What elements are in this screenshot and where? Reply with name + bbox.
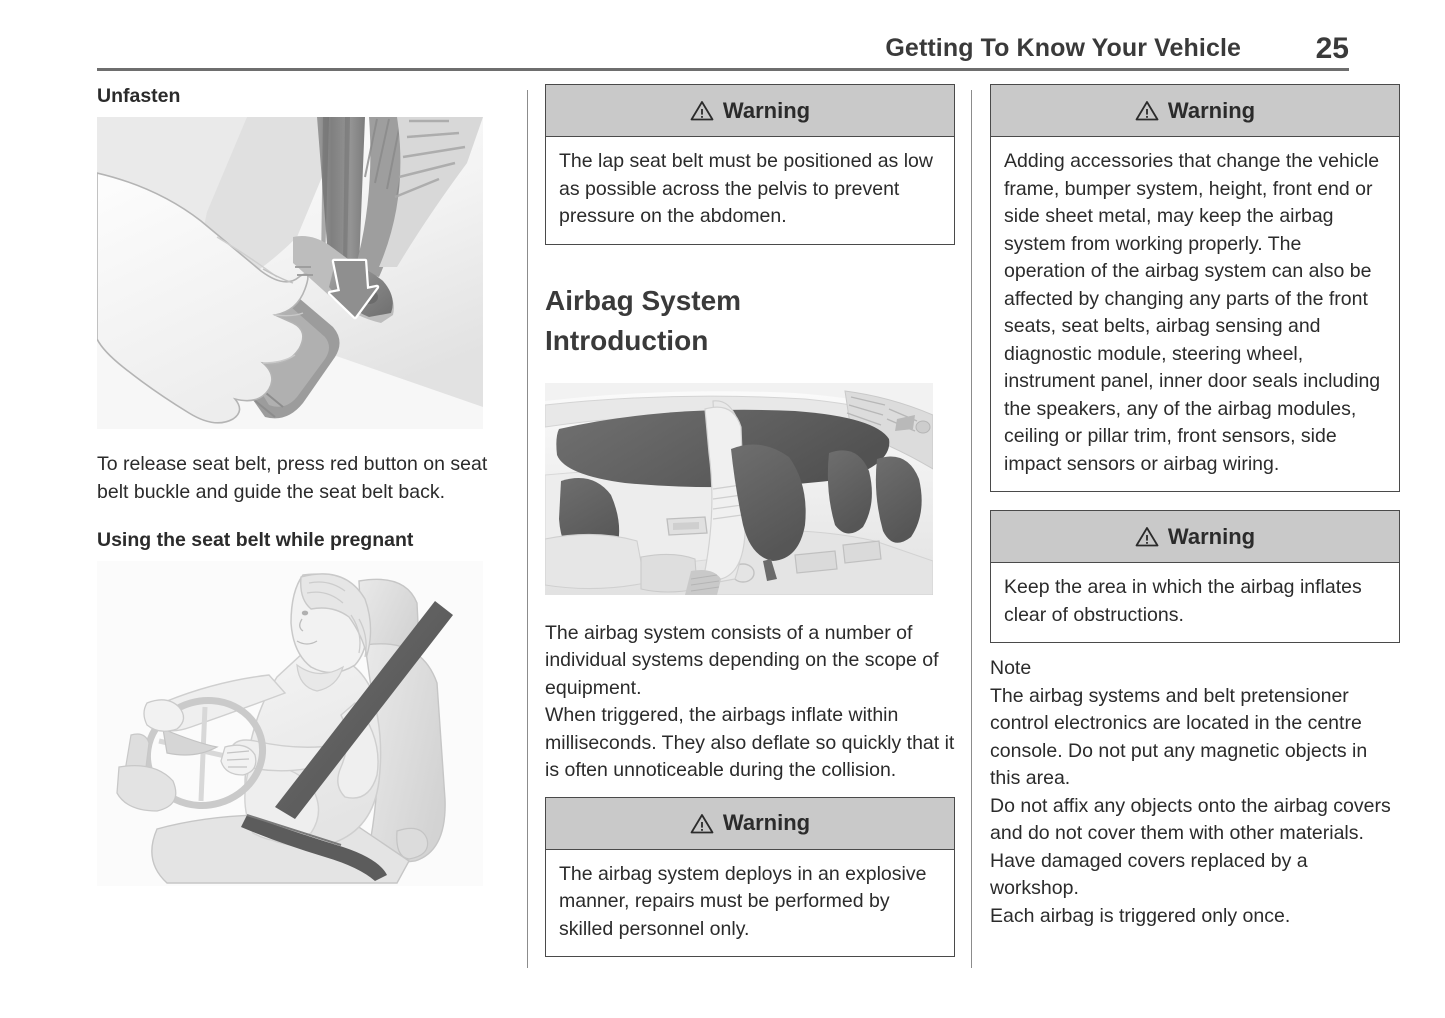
warning-body: The lap seat belt must be positioned as … bbox=[546, 137, 954, 244]
subhead-pregnant: Using the seat belt while pregnant bbox=[97, 528, 507, 553]
note-paragraph-1: The airbag systems and belt pretensioner… bbox=[990, 683, 1400, 793]
warning-box-explosive: Warning The airbag system deploys in an … bbox=[545, 797, 955, 958]
warning-body: Adding accessories that change the vehic… bbox=[991, 137, 1399, 491]
figure-unfasten-seatbelt bbox=[97, 117, 483, 429]
figure-deployed-airbags bbox=[545, 383, 933, 595]
section-title-line-2: Introduction bbox=[545, 321, 955, 361]
warning-header: Warning bbox=[546, 85, 954, 137]
warning-header: Warning bbox=[991, 85, 1399, 137]
column-divider-right bbox=[971, 90, 972, 968]
warning-text-obstructions: Keep the area in which the airbag inflat… bbox=[1004, 574, 1386, 629]
page-header: Getting To Know Your Vehicle 25 bbox=[97, 34, 1349, 70]
section-heading-airbag-system: Airbag System Introduction bbox=[545, 281, 955, 361]
warning-label: Warning bbox=[723, 98, 810, 124]
note-block: Note The airbag systems and belt pretens… bbox=[990, 655, 1400, 930]
warning-box-accessories: Warning Adding accessories that change t… bbox=[990, 84, 1400, 492]
warning-text-lap-belt: The lap seat belt must be positioned as … bbox=[559, 148, 941, 231]
subhead-unfasten: Unfasten bbox=[97, 84, 507, 109]
page-number: 25 bbox=[1316, 32, 1349, 66]
warning-triangle-icon bbox=[1135, 526, 1159, 547]
warning-box-obstructions: Warning Keep the area in which the airba… bbox=[990, 510, 1400, 643]
warning-triangle-icon bbox=[690, 100, 714, 121]
page-columns: Unfasten bbox=[0, 84, 1445, 984]
warning-label: Warning bbox=[1168, 98, 1255, 124]
left-column: Unfasten bbox=[97, 84, 507, 886]
paragraph-airbag-systems: The airbag system consists of a number o… bbox=[545, 620, 955, 703]
figure-pregnant-driver bbox=[97, 561, 483, 886]
header-rule bbox=[97, 68, 1349, 71]
middle-column: Warning The lap seat belt must be positi… bbox=[545, 84, 955, 957]
warning-label: Warning bbox=[723, 810, 810, 836]
note-paragraph-2: Do not affix any objects onto the airbag… bbox=[990, 793, 1400, 903]
section-title-line-1: Airbag System bbox=[545, 281, 955, 321]
warning-body: The airbag system deploys in an explosiv… bbox=[546, 850, 954, 957]
paragraph-airbag-triggered: When triggered, the airbags inflate with… bbox=[545, 702, 955, 785]
page-title: Getting To Know Your Vehicle bbox=[885, 34, 1241, 63]
warning-body: Keep the area in which the airbag inflat… bbox=[991, 563, 1399, 642]
warning-triangle-icon bbox=[1135, 100, 1159, 121]
right-column: Warning Adding accessories that change t… bbox=[990, 84, 1400, 930]
warning-label: Warning bbox=[1168, 524, 1255, 550]
warning-text-explosive: The airbag system deploys in an explosiv… bbox=[559, 861, 941, 944]
note-paragraph-3: Each airbag is triggered only once. bbox=[990, 903, 1400, 931]
warning-box-lap-belt: Warning The lap seat belt must be positi… bbox=[545, 84, 955, 245]
note-label: Note bbox=[990, 655, 1400, 683]
warning-header: Warning bbox=[546, 798, 954, 850]
paragraph-release-seatbelt: To release seat belt, press red button o… bbox=[97, 451, 507, 506]
column-divider-left bbox=[527, 90, 528, 968]
warning-text-accessories: Adding accessories that change the vehic… bbox=[1004, 148, 1386, 478]
warning-triangle-icon bbox=[690, 813, 714, 834]
warning-header: Warning bbox=[991, 511, 1399, 563]
